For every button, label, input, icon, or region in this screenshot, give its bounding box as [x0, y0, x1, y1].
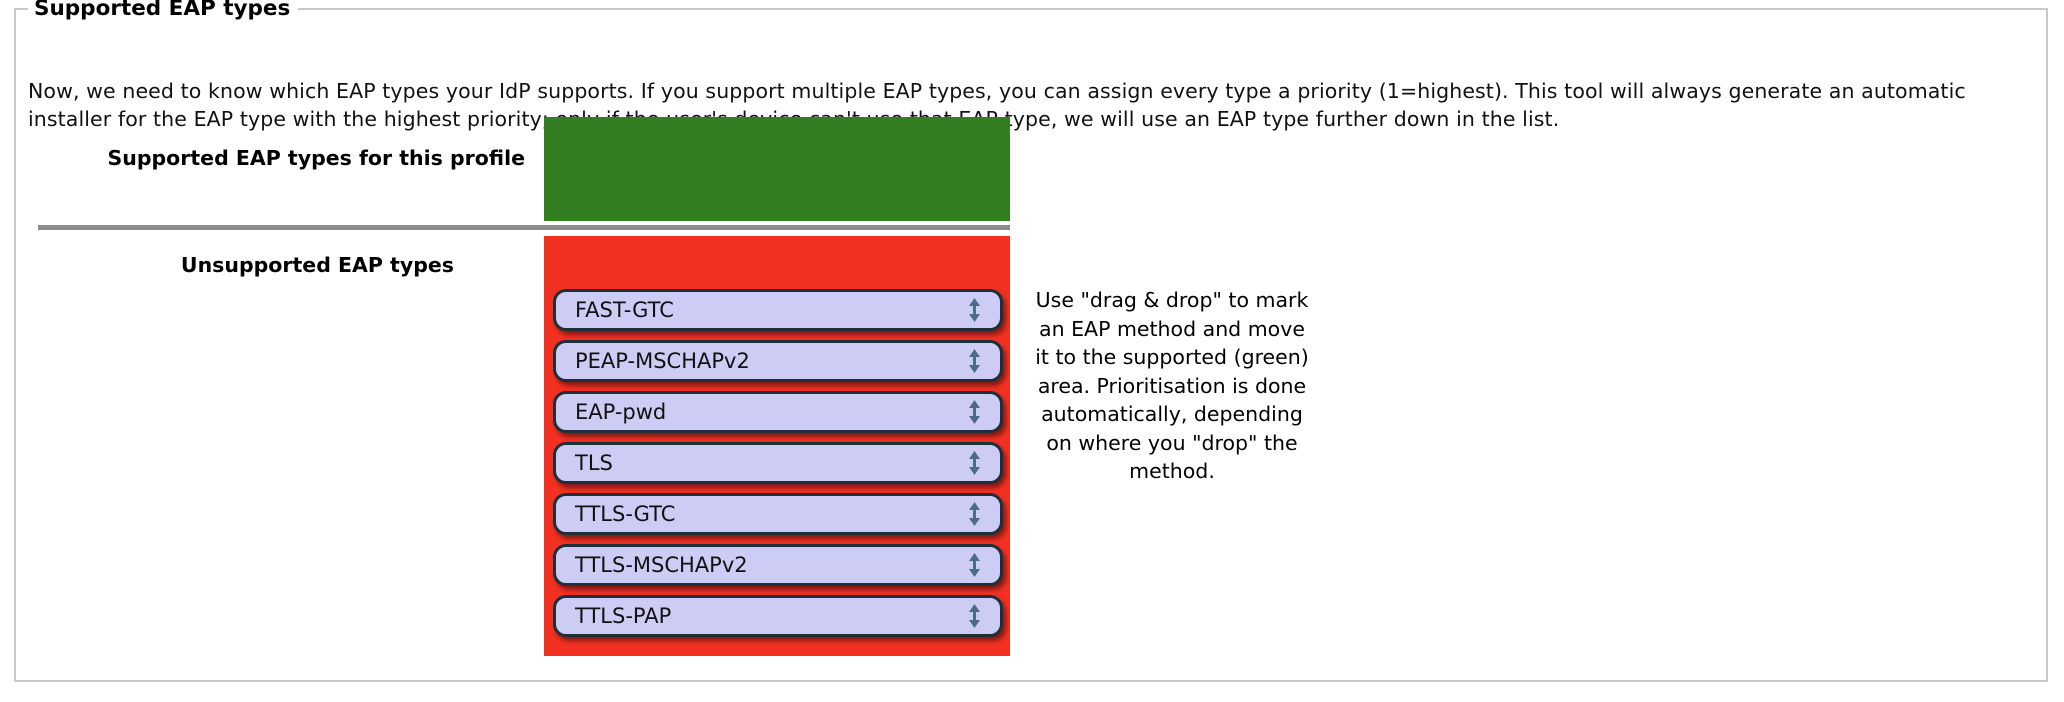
list-item[interactable]: PEAP-MSCHAPv2 [553, 340, 1003, 382]
zone-separator [38, 225, 1010, 230]
list-item[interactable]: TTLS-GTC [553, 493, 1003, 535]
eap-item-label: EAP-pwd [575, 400, 666, 424]
supported-eap-dropzone[interactable] [544, 117, 1010, 221]
supported-eap-label: Supported EAP types for this profile [16, 145, 525, 171]
drag-handle-updown-icon[interactable] [968, 297, 981, 323]
eap-item-label: TTLS-PAP [575, 604, 671, 628]
drag-handle-updown-icon[interactable] [968, 399, 981, 425]
supported-eap-row: Supported EAP types for this profile [16, 117, 2046, 221]
list-item[interactable]: EAP-pwd [553, 391, 1003, 433]
eap-item-label: TTLS-MSCHAPv2 [575, 553, 748, 577]
drag-handle-updown-icon[interactable] [968, 450, 981, 476]
list-item[interactable]: FAST-GTC [553, 289, 1003, 331]
list-item[interactable]: TTLS-PAP [553, 595, 1003, 637]
drag-handle-updown-icon[interactable] [968, 348, 981, 374]
supported-eap-types-panel: Supported EAP types Now, we need to know… [14, 8, 2048, 682]
unsupported-eap-dropzone[interactable]: FAST-GTC PEAP-MSCHAPv2 EAP-pwd [544, 236, 1010, 656]
unsupported-eap-row: Unsupported EAP types FAST-GTC PEAP-MSCH… [16, 236, 2046, 656]
list-item[interactable]: TTLS-MSCHAPv2 [553, 544, 1003, 586]
unsupported-eap-label: Unsupported EAP types [16, 252, 454, 278]
drag-handle-updown-icon[interactable] [968, 603, 981, 629]
eap-item-label: PEAP-MSCHAPv2 [575, 349, 750, 373]
eap-item-label: FAST-GTC [575, 298, 674, 322]
eap-item-label: TLS [575, 451, 613, 475]
drag-drop-help-text: Use "drag & drop" to mark an EAP method … [1030, 286, 1314, 486]
panel-legend: Supported EAP types [28, 0, 298, 22]
list-item[interactable]: TLS [553, 442, 1003, 484]
unsupported-eap-list[interactable]: FAST-GTC PEAP-MSCHAPv2 EAP-pwd [553, 289, 1003, 637]
eap-item-label: TTLS-GTC [575, 502, 675, 526]
drag-handle-updown-icon[interactable] [968, 501, 981, 527]
drag-handle-updown-icon[interactable] [968, 552, 981, 578]
